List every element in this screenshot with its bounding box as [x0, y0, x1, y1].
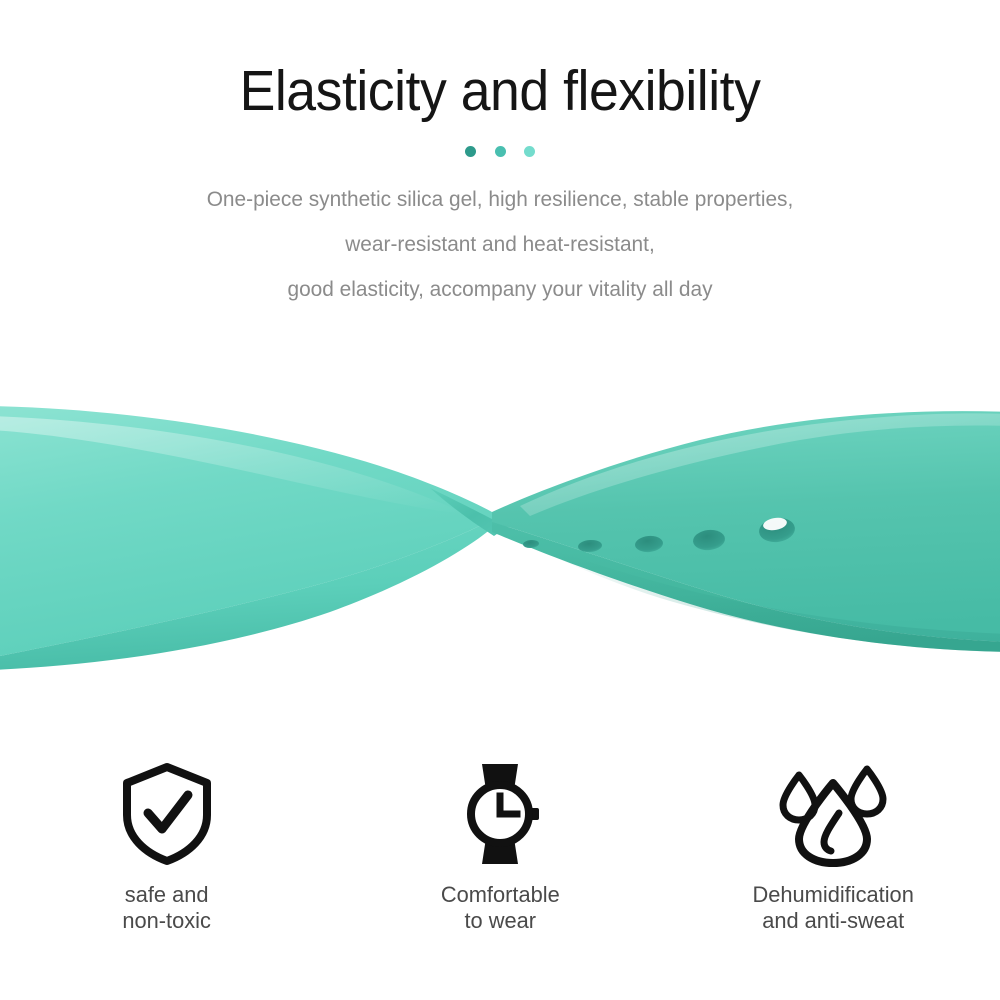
caption-line-2: to wear	[441, 908, 560, 934]
caption-line-1: Comfortable	[441, 882, 560, 908]
separator-dot-1	[465, 146, 476, 157]
feature-row: safe and non-toxic Comfortable to wear	[0, 760, 1000, 960]
feature-safe-non-toxic: safe and non-toxic	[0, 760, 333, 960]
subtitle-line-3: good elasticity, accompany your vitality…	[83, 267, 917, 312]
water-drops-icon	[777, 760, 889, 868]
shield-check-icon	[119, 760, 215, 868]
shield-check-icon-svg	[119, 761, 215, 867]
subtitle-line-1: One-piece synthetic silica gel, high res…	[83, 177, 917, 222]
separator-dot-2	[495, 146, 506, 157]
header-block: Elasticity and flexibility One-piece syn…	[0, 0, 1000, 312]
subtitle-block: One-piece synthetic silica gel, high res…	[83, 157, 917, 312]
feature-comfortable-to-wear: Comfortable to wear	[333, 760, 666, 960]
caption-line-1: safe and	[122, 882, 211, 908]
feature-caption-comfortable: Comfortable to wear	[441, 882, 560, 934]
separator-dot-3	[524, 146, 535, 157]
three-dots-separator	[465, 122, 535, 157]
water-drops-icon-svg	[777, 761, 889, 867]
subtitle-line-2: wear-resistant and heat-resistant,	[83, 222, 917, 267]
caption-line-2: and anti-sweat	[753, 908, 914, 934]
wristwatch-icon	[455, 760, 545, 868]
product-image	[0, 370, 1000, 700]
feature-caption-dehumidification: Dehumidification and anti-sweat	[753, 882, 914, 934]
twisted-silicone-band-graphic	[0, 370, 1000, 700]
caption-line-2: non-toxic	[122, 908, 211, 934]
feature-caption-safe: safe and non-toxic	[122, 882, 211, 934]
feature-dehumidification: Dehumidification and anti-sweat	[667, 760, 1000, 960]
wristwatch-icon-svg	[455, 760, 545, 868]
caption-line-1: Dehumidification	[753, 882, 914, 908]
page-title: Elasticity and flexibility	[30, 0, 970, 122]
